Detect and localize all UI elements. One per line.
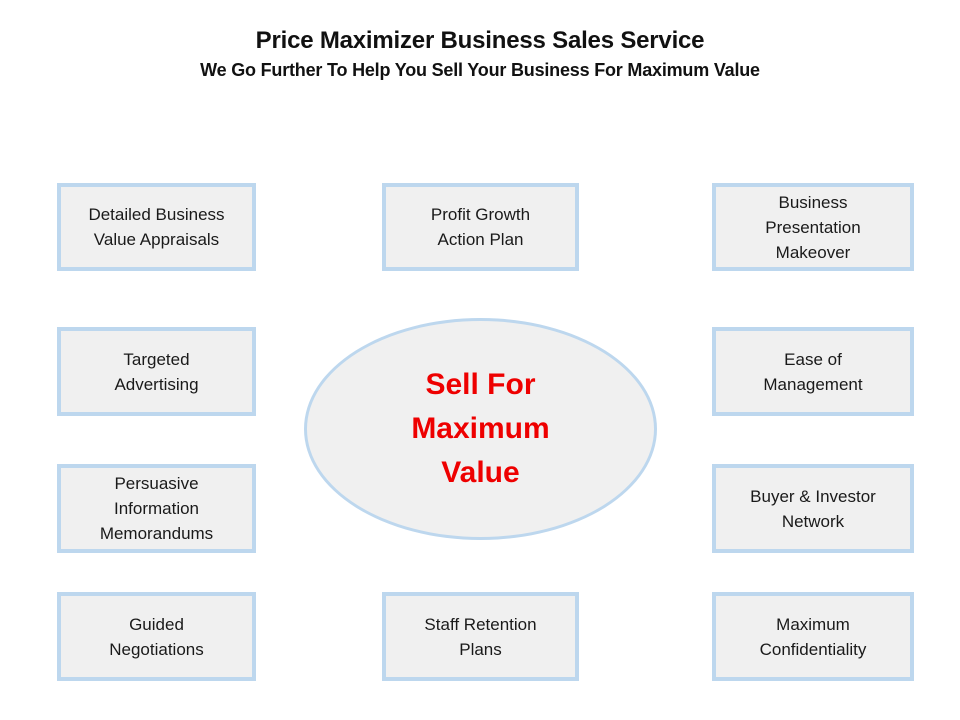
service-box-label: Business Presentation Makeover [765, 190, 860, 265]
service-box-maximum-confidentiality[interactable]: Maximum Confidentiality [712, 592, 914, 681]
service-box-business-presentation-makeover[interactable]: Business Presentation Makeover [712, 183, 914, 271]
center-ellipse-sell-for-maximum-value[interactable]: Sell For Maximum Value [304, 318, 657, 540]
service-box-label: Guided Negotiations [109, 612, 204, 662]
service-box-label: Maximum Confidentiality [760, 612, 867, 662]
page-title: Price Maximizer Business Sales Service [0, 26, 960, 56]
diagram-header: Price Maximizer Business Sales Service W… [0, 26, 960, 82]
diagram-canvas: Price Maximizer Business Sales Service W… [0, 0, 960, 720]
service-box-label: Persuasive Information Memorandums [100, 471, 213, 546]
service-box-label: Staff Retention Plans [424, 612, 536, 662]
page-subtitle: We Go Further To Help You Sell Your Busi… [0, 58, 960, 82]
service-box-profit-growth-action-plan[interactable]: Profit Growth Action Plan [382, 183, 579, 271]
service-box-label: Buyer & Investor Network [750, 484, 876, 534]
service-box-staff-retention-plans[interactable]: Staff Retention Plans [382, 592, 579, 681]
service-box-persuasive-information-memorandums[interactable]: Persuasive Information Memorandums [57, 464, 256, 553]
service-box-label: Ease of Management [763, 347, 862, 397]
service-box-detailed-business-value-appraisals[interactable]: Detailed Business Value Appraisals [57, 183, 256, 271]
service-box-targeted-advertising[interactable]: Targeted Advertising [57, 327, 256, 416]
service-box-label: Detailed Business Value Appraisals [88, 202, 224, 252]
service-box-guided-negotiations[interactable]: Guided Negotiations [57, 592, 256, 681]
service-box-label: Profit Growth Action Plan [431, 202, 530, 252]
center-ellipse-label: Sell For Maximum Value [411, 363, 549, 495]
service-box-ease-of-management[interactable]: Ease of Management [712, 327, 914, 416]
service-box-label: Targeted Advertising [114, 347, 198, 397]
service-box-buyer-and-investor-network[interactable]: Buyer & Investor Network [712, 464, 914, 553]
